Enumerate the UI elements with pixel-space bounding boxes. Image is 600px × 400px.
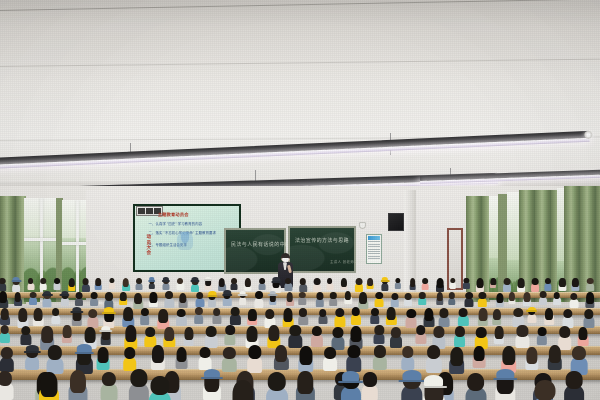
student-long-hair (424, 308, 433, 321)
student (63, 325, 72, 342)
student-head (532, 278, 539, 285)
student-head (177, 278, 183, 284)
student (491, 278, 496, 288)
student (586, 292, 594, 307)
student-head (375, 325, 384, 335)
student (283, 308, 292, 325)
student (402, 346, 413, 368)
student (205, 278, 211, 289)
student-torso (0, 357, 14, 372)
student-head (514, 308, 523, 318)
classroom-photo: 主题教育动员会 一、认真学 "四史" 学习教育的内容 二、落实 "不忘初心牢记使… (0, 0, 600, 400)
student-long-hair (493, 309, 501, 321)
student (68, 278, 74, 290)
student (76, 292, 83, 305)
student (1, 347, 13, 370)
student-head (231, 278, 237, 284)
student (101, 327, 110, 344)
student (351, 307, 360, 323)
student (239, 292, 245, 304)
student (122, 278, 129, 291)
student-cap (13, 277, 20, 281)
student (450, 278, 455, 288)
student-head (416, 325, 425, 335)
student-cap (191, 277, 198, 281)
student (165, 291, 173, 306)
student-head (587, 278, 593, 285)
student (88, 309, 98, 327)
student (450, 347, 463, 372)
student-long-hair (387, 307, 396, 320)
student (473, 346, 484, 367)
student-long-hair (41, 326, 53, 343)
student-head (374, 345, 386, 357)
student-head (375, 292, 383, 300)
student (13, 278, 20, 291)
student-head (141, 308, 149, 316)
student (105, 292, 113, 307)
student-long-hair (95, 278, 101, 286)
student (232, 380, 253, 400)
student-head (465, 292, 473, 300)
student-head (570, 293, 577, 301)
student (416, 325, 425, 343)
student (165, 327, 175, 345)
student (54, 278, 60, 289)
student-cap (205, 277, 211, 281)
student-cap (382, 277, 388, 281)
student-long-hair (579, 327, 588, 340)
student-long-hair (350, 326, 361, 342)
student (327, 278, 333, 289)
student-head (0, 278, 5, 285)
student-torso (478, 298, 486, 307)
student-long-hair (572, 278, 578, 287)
student (436, 292, 442, 304)
chalk-dust (226, 230, 284, 272)
student-long-hair (63, 325, 72, 338)
student (371, 308, 379, 323)
student-head (559, 326, 571, 338)
student (427, 345, 441, 371)
student (359, 292, 367, 307)
student-torso (544, 283, 551, 291)
notice-line (368, 246, 380, 247)
student-long-hair (559, 278, 565, 287)
student-long-hair (150, 292, 157, 302)
student (191, 278, 198, 291)
student (299, 346, 312, 371)
student (136, 278, 142, 289)
student (225, 325, 235, 343)
student (403, 371, 421, 400)
student-cap (101, 326, 110, 332)
student-head (406, 309, 415, 319)
student-head (54, 278, 60, 284)
student-head (196, 292, 204, 300)
student (314, 278, 321, 291)
student (422, 278, 428, 289)
student (70, 370, 86, 400)
student-torso (516, 334, 529, 348)
student (497, 370, 514, 400)
student (248, 345, 261, 370)
student (478, 308, 487, 325)
student-long-hair (526, 347, 537, 363)
student-long-hair (0, 291, 7, 303)
notice-line (368, 249, 380, 250)
student (395, 278, 400, 288)
student (195, 307, 203, 322)
student-torso (311, 334, 323, 347)
student (134, 293, 142, 308)
student-cap (424, 375, 444, 387)
student (587, 278, 593, 290)
student (493, 309, 501, 324)
student (231, 307, 240, 323)
student-head (330, 292, 336, 299)
student-head (554, 292, 561, 299)
notice-header (368, 236, 380, 240)
student (0, 325, 9, 341)
student-long-hair (68, 278, 74, 287)
student (40, 278, 46, 289)
student (196, 292, 204, 306)
student-head (534, 380, 555, 400)
student (316, 292, 323, 306)
student-long-hair (345, 291, 351, 300)
student-head (255, 291, 263, 299)
notice-board[interactable] (366, 234, 382, 264)
student-long-hair (179, 293, 186, 304)
student (410, 278, 416, 289)
slide-title: 主题教育动员会 (158, 212, 189, 218)
student (479, 292, 486, 306)
student-head (347, 345, 360, 358)
student-head (124, 347, 136, 359)
student-head (0, 371, 12, 386)
student-head (105, 292, 113, 300)
student (319, 309, 327, 323)
student-cap (269, 291, 276, 295)
student-long-hair (165, 327, 175, 341)
student-long-hair (341, 278, 347, 287)
student-head (476, 327, 487, 338)
student-head (225, 325, 235, 335)
student-long-hair (246, 326, 257, 342)
notice-line (368, 253, 380, 254)
student-long-hair (502, 346, 515, 365)
student (345, 291, 351, 303)
student-head (40, 278, 46, 284)
student-cap (342, 371, 360, 382)
student-head (195, 307, 203, 315)
student-head (504, 278, 511, 285)
student (298, 371, 313, 400)
student-long-hair (477, 278, 484, 288)
student-head (566, 371, 583, 388)
student (367, 278, 373, 289)
student (48, 345, 62, 372)
student (477, 278, 484, 291)
student (504, 278, 511, 291)
student-long-hair (125, 325, 136, 341)
student (124, 347, 136, 369)
student-long-hair (549, 345, 561, 363)
student-cap (72, 307, 81, 312)
wall-speaker-right (388, 213, 404, 231)
student (517, 325, 528, 346)
student-head (332, 327, 343, 338)
student (0, 371, 12, 398)
student (44, 292, 52, 307)
student-long-hair (97, 347, 108, 363)
student-long-hair (15, 292, 22, 302)
student (406, 309, 415, 327)
student (40, 372, 57, 400)
student (209, 292, 216, 305)
student-long-hair (450, 347, 463, 366)
student-head (88, 309, 98, 319)
student-cap (77, 344, 91, 353)
student-cap (163, 277, 169, 281)
student (285, 278, 291, 289)
student-head (76, 292, 83, 299)
student (125, 325, 136, 347)
student (231, 278, 237, 289)
student-long-hair (410, 278, 416, 286)
student-long-hair (586, 292, 594, 303)
student-torso (140, 314, 150, 324)
student (387, 307, 396, 324)
student (246, 326, 257, 347)
student-long-hair (120, 292, 126, 301)
slide-side-text: 动员大会 (144, 234, 153, 256)
student-torso (381, 283, 388, 291)
student-head (30, 292, 37, 299)
student-long-hair (18, 308, 27, 322)
student-torso (390, 298, 398, 307)
student-head (422, 278, 428, 284)
student-head (402, 346, 413, 358)
student (570, 293, 577, 307)
student-long-hair (496, 293, 503, 303)
student (467, 373, 485, 400)
student (28, 278, 34, 289)
student (273, 278, 280, 291)
student (213, 308, 221, 323)
student-head (177, 309, 186, 318)
student (424, 308, 433, 326)
student (15, 292, 22, 305)
student (584, 309, 593, 327)
student-head (467, 373, 485, 391)
student (290, 325, 301, 347)
ceiling-seam (0, 59, 600, 67)
notice-line (368, 258, 380, 259)
student-head (572, 346, 586, 360)
student (566, 371, 583, 400)
student (524, 292, 531, 305)
student (419, 292, 425, 304)
student (219, 278, 226, 290)
student-long-hair (436, 292, 442, 301)
student (391, 327, 401, 346)
student (449, 292, 455, 304)
student (163, 278, 169, 289)
student (545, 308, 553, 323)
student (495, 326, 504, 342)
student-head (545, 278, 551, 284)
student-head (450, 278, 455, 284)
student-head (363, 372, 377, 386)
student (330, 292, 336, 304)
student-long-hair (275, 345, 287, 362)
student-head (563, 309, 572, 319)
student (528, 308, 536, 323)
student-head (324, 347, 336, 359)
student-head (433, 326, 444, 337)
student (347, 345, 360, 370)
student (579, 327, 588, 344)
student-cap (239, 291, 246, 295)
student-long-hair (268, 325, 279, 341)
student (518, 278, 525, 291)
student (324, 347, 336, 369)
student (455, 326, 465, 345)
student (405, 293, 412, 306)
student (341, 278, 347, 290)
student (110, 278, 115, 288)
student-long-hair (524, 292, 531, 302)
student (355, 278, 362, 291)
student-torso (149, 283, 155, 290)
student (61, 292, 68, 305)
student (572, 278, 578, 290)
slide-bullet-1: 一、认真学 "四史" 学习教育的内容 (149, 221, 203, 226)
student (150, 376, 169, 400)
student (374, 345, 386, 368)
student (73, 308, 82, 325)
student (0, 278, 6, 290)
notice-line (368, 251, 380, 252)
student (440, 308, 449, 325)
student-long-hair (245, 278, 251, 287)
student-head (102, 372, 116, 387)
notice-line (368, 256, 380, 257)
student-long-hair (184, 327, 193, 340)
student-head (314, 278, 321, 285)
student (549, 345, 561, 368)
student-cap (497, 369, 514, 379)
student-head (0, 325, 9, 334)
student (248, 309, 256, 325)
student (286, 292, 293, 305)
student (268, 325, 279, 346)
student-head (440, 308, 449, 317)
student-cap (273, 277, 280, 281)
student-torso (463, 282, 469, 289)
student (464, 278, 469, 288)
student (0, 291, 7, 306)
slide-illustration (177, 232, 193, 250)
student-cap (43, 291, 51, 296)
student (540, 291, 547, 304)
student (95, 278, 101, 289)
student (269, 292, 275, 304)
student (179, 293, 186, 307)
student (459, 308, 468, 325)
blackboard-panel-right: 法治宣传的方法与思路 主讲人 张老师 2021年6月 (288, 226, 356, 273)
student-head (82, 278, 89, 285)
audience-area (0, 276, 600, 400)
student-head (52, 308, 60, 316)
student-head (459, 308, 468, 317)
student-long-hair (152, 345, 164, 363)
student (245, 278, 251, 290)
student-head (391, 327, 401, 337)
student-long-hair (122, 278, 129, 288)
student (34, 308, 43, 325)
student-head (136, 278, 142, 284)
student-head (371, 308, 379, 316)
student-head (285, 278, 291, 284)
student (146, 327, 156, 345)
student (158, 309, 168, 327)
window-mullion (24, 238, 58, 241)
student (149, 278, 154, 288)
student (141, 308, 149, 323)
student (91, 292, 98, 305)
student (335, 308, 344, 326)
student-head (223, 347, 235, 360)
student (223, 347, 235, 370)
student-head (335, 308, 344, 318)
student (424, 376, 443, 400)
student-cap (223, 290, 231, 294)
student-head (165, 291, 173, 299)
student-torso (448, 298, 455, 306)
student-head (1, 347, 13, 359)
blackboard-text-right: 法治宣传的方法与思路 (295, 238, 349, 245)
ceiling-seam (0, 0, 600, 11)
student-head (290, 325, 301, 337)
student-torso (194, 314, 204, 324)
student-long-hair (478, 308, 487, 321)
student (300, 278, 306, 290)
student-head (28, 278, 34, 284)
student (120, 292, 126, 304)
student (496, 293, 503, 307)
student (375, 325, 384, 343)
student-head (517, 325, 528, 336)
student (206, 326, 217, 346)
student-head (231, 307, 240, 316)
student-head (213, 308, 221, 316)
student-long-hair (158, 309, 168, 323)
student-long-hair (298, 371, 313, 393)
student-torso (299, 297, 307, 305)
student (224, 291, 231, 305)
student (342, 372, 359, 400)
student-head (150, 376, 169, 395)
student-head (355, 278, 362, 285)
student (534, 380, 555, 400)
student (268, 372, 287, 400)
student-head (268, 372, 287, 391)
student (130, 369, 147, 400)
student (18, 308, 27, 326)
